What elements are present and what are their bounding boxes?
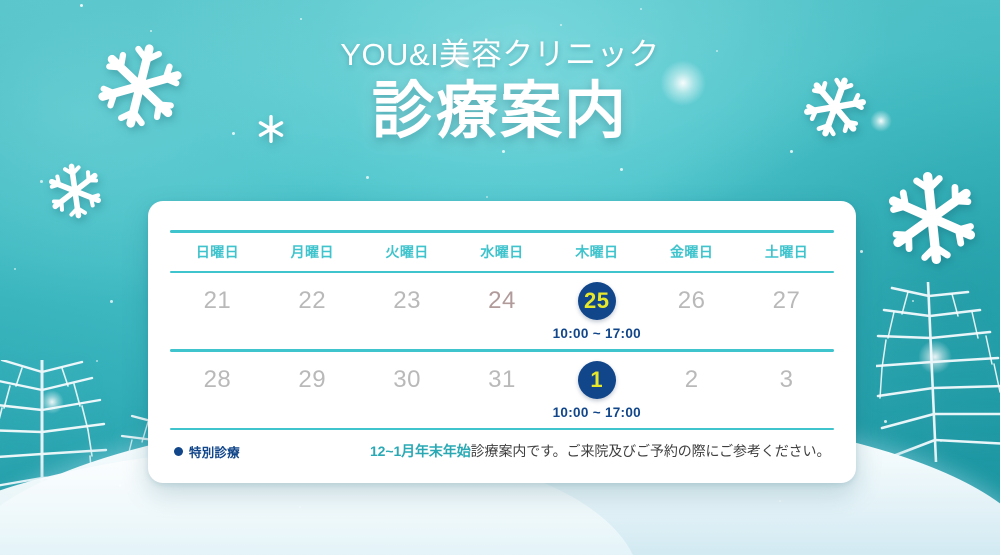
snow-dot xyxy=(300,18,302,20)
calendar-cell[interactable]: 2 xyxy=(644,352,739,428)
legend: 特別診療 xyxy=(174,442,370,461)
weekday-header-sun: 日曜日 xyxy=(170,233,265,271)
calendar-cell[interactable]: 22 xyxy=(265,273,360,349)
calendar-row: 28 29 30 31 1 10:00 ~ 17:00 2 3 xyxy=(170,352,834,428)
day-number: 26 xyxy=(645,274,738,314)
day-number: 30 xyxy=(361,353,454,393)
special-day-badge: 25 xyxy=(578,282,616,320)
calendar-cell[interactable]: 28 xyxy=(170,352,265,428)
calendar-week-1: 21 22 23 24 25 10:00 ~ 17:00 26 27 xyxy=(170,273,834,349)
schedule-card: 日曜日 月曜日 火曜日 水曜日 木曜日 金曜日 土曜日 21 22 23 xyxy=(148,201,856,483)
snow-dot xyxy=(620,168,623,171)
weekday-header-thu: 木曜日 xyxy=(549,233,644,271)
footer-note-rest: 診療案内です。ご来院及びご予約の際にご参考ください。 xyxy=(471,443,831,459)
day-number: 24 xyxy=(456,274,549,314)
page-title: 診療案内 xyxy=(0,77,1000,146)
day-number: 3 xyxy=(740,353,833,393)
snow-dot xyxy=(366,176,369,179)
calendar-cell[interactable]: 24 xyxy=(455,273,550,349)
snow-dot xyxy=(502,150,505,153)
bullet-dot-icon xyxy=(174,447,183,456)
calendar-cell[interactable]: 23 xyxy=(360,273,455,349)
weekday-header-sat: 土曜日 xyxy=(739,233,834,271)
day-number: 2 xyxy=(645,353,738,393)
weekday-header-mon: 月曜日 xyxy=(265,233,360,271)
poster-stage: YOU&I美容クリニック 診療案内 日曜日 月曜日 火曜日 水曜日 木曜日 金曜… xyxy=(0,0,1000,555)
calendar-week-2: 28 29 30 31 1 10:00 ~ 17:00 2 3 xyxy=(170,352,834,428)
snow-dot xyxy=(150,30,152,32)
calendar-cell[interactable]: 29 xyxy=(265,352,360,428)
footer-note-highlight: 12~1月年末年始 xyxy=(370,443,471,459)
calendar-cell[interactable]: 27 xyxy=(739,273,834,349)
day-number: 31 xyxy=(456,353,549,393)
special-day-badge: 1 xyxy=(578,361,616,399)
snow-dot xyxy=(860,250,863,253)
day-number: 21 xyxy=(171,274,264,314)
calendar-table: 日曜日 月曜日 火曜日 水曜日 木曜日 金曜日 土曜日 xyxy=(170,233,834,271)
day-number-highlighted: 25 xyxy=(550,274,643,320)
snow-dot xyxy=(486,196,488,198)
day-number: 23 xyxy=(361,274,454,314)
weekday-header-tue: 火曜日 xyxy=(360,233,455,271)
opening-hours: 10:00 ~ 17:00 xyxy=(550,326,643,341)
snow-dot xyxy=(640,8,642,10)
snow-dot xyxy=(40,180,43,183)
calendar-head: 日曜日 月曜日 火曜日 水曜日 木曜日 金曜日 土曜日 xyxy=(170,233,834,271)
day-number: 22 xyxy=(266,274,359,314)
legend-label: 特別診療 xyxy=(189,442,240,461)
snowflake-icon xyxy=(44,160,106,222)
weekday-header-wed: 水曜日 xyxy=(455,233,550,271)
poster-header: YOU&I美容クリニック 診療案内 xyxy=(0,38,1000,147)
snow-dot xyxy=(80,4,83,7)
calendar-cell-special[interactable]: 1 10:00 ~ 17:00 xyxy=(549,352,644,428)
calendar-cell-special[interactable]: 25 10:00 ~ 17:00 xyxy=(549,273,644,349)
weekday-header-row: 日曜日 月曜日 火曜日 水曜日 木曜日 金曜日 土曜日 xyxy=(170,233,834,271)
snow-dot xyxy=(14,268,16,270)
clinic-name: YOU&I美容クリニック xyxy=(0,38,1000,72)
day-number: 28 xyxy=(171,353,264,393)
calendar-row: 21 22 23 24 25 10:00 ~ 17:00 26 27 xyxy=(170,273,834,349)
calendar-cell[interactable]: 3 xyxy=(739,352,834,428)
opening-hours: 10:00 ~ 17:00 xyxy=(550,405,643,420)
schedule-card-inner: 日曜日 月曜日 火曜日 水曜日 木曜日 金曜日 土曜日 21 22 23 xyxy=(148,230,856,461)
day-number: 29 xyxy=(266,353,359,393)
calendar-cell[interactable]: 21 xyxy=(170,273,265,349)
calendar-cell[interactable]: 30 xyxy=(360,352,455,428)
day-number: 27 xyxy=(740,274,833,314)
snow-dot xyxy=(790,150,793,153)
calendar-cell[interactable]: 26 xyxy=(644,273,739,349)
snow-dot xyxy=(110,300,113,303)
snowflake-icon xyxy=(880,166,984,270)
weekday-header-fri: 金曜日 xyxy=(644,233,739,271)
calendar-cell[interactable]: 31 xyxy=(455,352,550,428)
day-number-highlighted: 1 xyxy=(550,353,643,399)
footer-note: 12~1月年末年始診療案内です。ご来院及びご予約の際にご参考ください。 xyxy=(370,441,830,461)
card-footer: 特別診療 12~1月年末年始診療案内です。ご来院及びご予約の際にご参考ください。 xyxy=(170,430,834,461)
snow-dot xyxy=(560,24,562,26)
